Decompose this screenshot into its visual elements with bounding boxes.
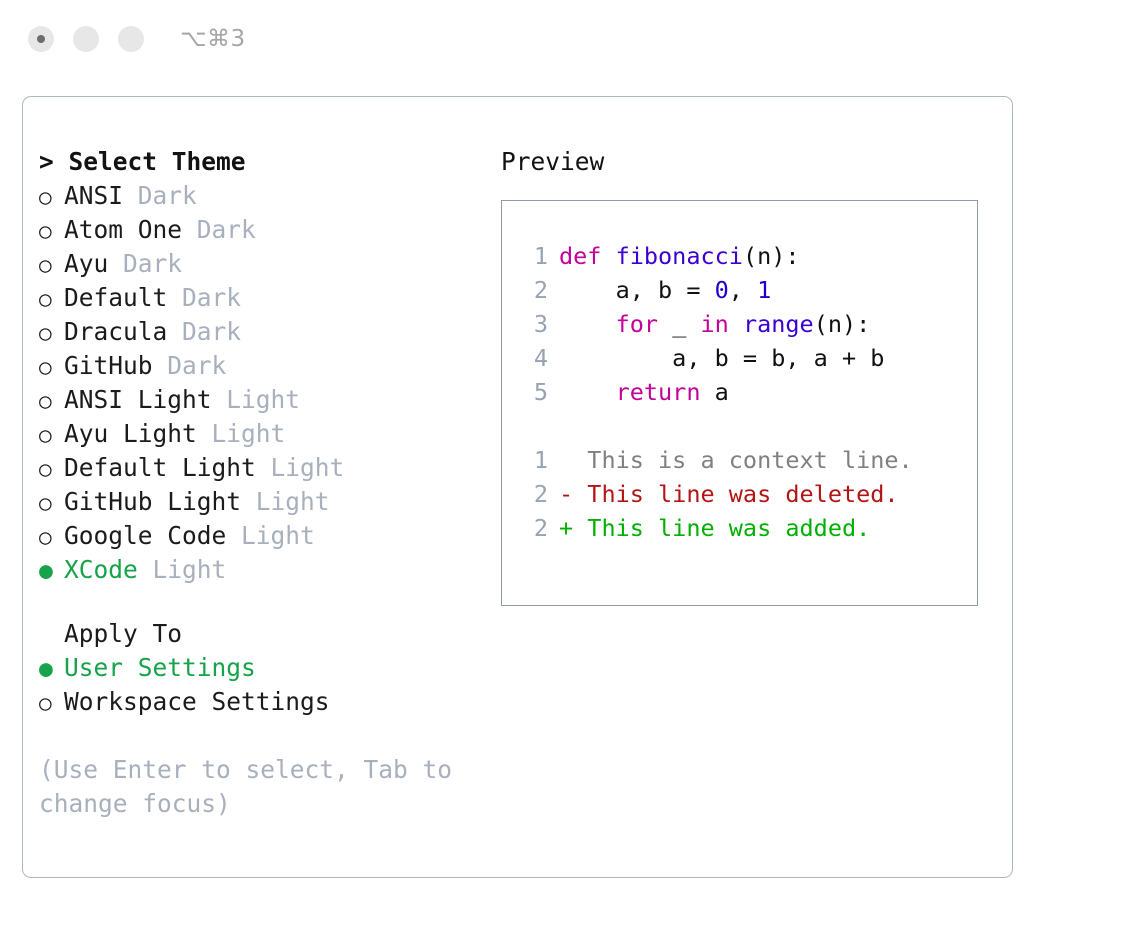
code-token: in (701, 310, 729, 338)
code-token (729, 310, 743, 338)
theme-option-default-light[interactable]: ○Default Light Light (39, 451, 499, 485)
code-text: for _ in range(n): (559, 307, 870, 341)
theme-option-label: ANSI (64, 179, 123, 213)
code-line: 5 return a (514, 375, 977, 409)
line-number: 2 (514, 477, 548, 511)
theme-option-label: GitHub Light (64, 485, 241, 519)
theme-option-google-code[interactable]: ○Google Code Light (39, 519, 499, 553)
line-number: 4 (514, 341, 548, 375)
apply-option-label: Workspace Settings (64, 685, 330, 719)
apply-to-heading: Apply To (39, 617, 499, 651)
theme-option-default[interactable]: ○Default Dark (39, 281, 499, 315)
diff-line: 2+ This line was added. (514, 511, 977, 545)
line-number: 5 (514, 375, 548, 409)
theme-option-label: XCode (64, 553, 138, 587)
code-token (559, 378, 616, 406)
theme-option-label: Ayu (64, 247, 108, 281)
code-token: 1 (757, 276, 771, 304)
code-text: def fibonacci(n): (559, 239, 800, 273)
theme-option-atom-one[interactable]: ○Atom One Dark (39, 213, 499, 247)
theme-option-ansi[interactable]: ○ANSI Dark (39, 179, 499, 213)
theme-option-label: Atom One (64, 213, 182, 247)
theme-option-xcode[interactable]: ●XCode Light (39, 553, 499, 587)
theme-option-variant-tag: Dark (108, 247, 182, 281)
theme-option-label: GitHub (64, 349, 153, 383)
traffic-light-group (28, 26, 144, 52)
line-number: 2 (514, 511, 548, 545)
theme-option-variant-tag: Dark (167, 281, 241, 315)
theme-list: ○ANSI Dark○Atom One Dark○Ayu Dark○Defaul… (39, 179, 499, 587)
theme-option-github[interactable]: ○GitHub Dark (39, 349, 499, 383)
line-number: 1 (514, 239, 548, 273)
radio-unselected-icon: ○ (39, 248, 64, 282)
theme-option-label: Google Code (64, 519, 226, 553)
radio-unselected-icon: ○ (39, 350, 64, 384)
radio-selected-icon: ● (39, 652, 64, 686)
theme-option-ansi-light[interactable]: ○ANSI Light Light (39, 383, 499, 417)
close-dot-icon[interactable] (28, 26, 54, 52)
code-token: def (559, 242, 616, 270)
theme-option-variant-tag: Light (241, 485, 330, 519)
theme-option-label: ANSI Light (64, 383, 212, 417)
apply-to-list: ●User Settings○Workspace Settings (39, 651, 499, 719)
code-token: return (616, 378, 701, 406)
radio-unselected-icon: ○ (39, 180, 64, 214)
line-number: 3 (514, 307, 548, 341)
code-sample: 1def fibonacci(n):2 a, b = 0, 13 for _ i… (514, 239, 977, 409)
apply-option-workspace-settings[interactable]: ○Workspace Settings (39, 685, 499, 719)
theme-option-variant-tag: Dark (182, 213, 256, 247)
code-token: a, b = b, a + b (559, 344, 884, 372)
code-token: a, b = (559, 276, 715, 304)
apply-option-label: User Settings (64, 651, 256, 685)
radio-unselected-icon: ○ (39, 418, 64, 452)
window-titlebar: ⌥⌘3 (0, 0, 1140, 78)
code-token: (n): (814, 310, 871, 338)
radio-unselected-icon: ○ (39, 486, 64, 520)
diff-line: 2- This line was deleted. (514, 477, 977, 511)
theme-option-dracula[interactable]: ○Dracula Dark (39, 315, 499, 349)
theme-option-ayu-light[interactable]: ○Ayu Light Light (39, 417, 499, 451)
main-panel: > Select Theme ○ANSI Dark○Atom One Dark○… (22, 96, 1013, 878)
code-line: 4 a, b = b, a + b (514, 341, 977, 375)
code-line: 3 for _ in range(n): (514, 307, 977, 341)
theme-option-variant-tag: Light (138, 553, 227, 587)
line-number: 1 (514, 443, 548, 477)
code-line: 1def fibonacci(n): (514, 239, 977, 273)
diff-sample: 1 This is a context line.2- This line wa… (514, 443, 977, 545)
radio-selected-icon: ● (39, 554, 64, 588)
preview-heading: Preview (501, 145, 1001, 179)
radio-unselected-icon: ○ (39, 384, 64, 418)
diff-text: This is a context line. (559, 443, 913, 477)
theme-option-label: Default Light (64, 451, 256, 485)
theme-option-variant-tag: Dark (123, 179, 197, 213)
spacer (39, 587, 499, 617)
theme-option-variant-tag: Light (212, 383, 301, 417)
radio-unselected-icon: ○ (39, 520, 64, 554)
code-token: (n): (743, 242, 800, 270)
select-theme-heading: > Select Theme (39, 145, 499, 179)
code-token: fibonacci (616, 242, 743, 270)
diff-line: 1 This is a context line. (514, 443, 977, 477)
preview-code-box: 1def fibonacci(n):2 a, b = 0, 13 for _ i… (501, 200, 978, 606)
theme-option-github-light[interactable]: ○GitHub Light Light (39, 485, 499, 519)
radio-unselected-icon: ○ (39, 214, 64, 248)
code-token: , (729, 276, 757, 304)
code-token: range (743, 310, 814, 338)
theme-option-variant-tag: Light (226, 519, 315, 553)
theme-option-variant-tag: Light (197, 417, 286, 451)
code-token: _ (658, 310, 700, 338)
theme-option-ayu[interactable]: ○Ayu Dark (39, 247, 499, 281)
radio-unselected-icon: ○ (39, 452, 64, 486)
diff-text: - This line was deleted. (559, 477, 899, 511)
code-token (559, 310, 616, 338)
code-text: return a (559, 375, 729, 409)
preview-column: Preview 1def fibonacci(n):2 a, b = 0, 13… (501, 145, 1001, 606)
panel-columns: > Select Theme ○ANSI Dark○Atom One Dark○… (23, 97, 1012, 877)
app-root: ⌥⌘3 > Select Theme ○ANSI Dark○Atom One D… (0, 0, 1140, 934)
keyboard-hint-text: (Use Enter to select, Tab to change focu… (39, 753, 459, 821)
code-spacer (514, 409, 977, 443)
code-text: a, b = b, a + b (559, 341, 884, 375)
minimize-dot-icon[interactable] (73, 26, 99, 52)
radio-unselected-icon: ○ (39, 282, 64, 316)
radio-unselected-icon: ○ (39, 316, 64, 350)
close-dot-inner (37, 35, 45, 43)
apply-option-user-settings[interactable]: ●User Settings (39, 651, 499, 685)
zoom-dot-icon[interactable] (118, 26, 144, 52)
keyboard-shortcut-label: ⌥⌘3 (180, 26, 246, 52)
code-line: 2 a, b = 0, 1 (514, 273, 977, 307)
theme-picker-column: > Select Theme ○ANSI Dark○Atom One Dark○… (39, 145, 499, 821)
theme-option-label: Default (64, 281, 167, 315)
radio-unselected-icon: ○ (39, 686, 64, 720)
theme-option-variant-tag: Light (256, 451, 345, 485)
code-text: a, b = 0, 1 (559, 273, 771, 307)
line-number: 2 (514, 273, 548, 307)
diff-text: + This line was added. (559, 511, 870, 545)
theme-option-label: Ayu Light (64, 417, 197, 451)
theme-option-variant-tag: Dark (153, 349, 227, 383)
code-token: for (616, 310, 658, 338)
code-token: a (700, 378, 728, 406)
theme-option-label: Dracula (64, 315, 167, 349)
code-token: 0 (715, 276, 729, 304)
theme-option-variant-tag: Dark (167, 315, 241, 349)
